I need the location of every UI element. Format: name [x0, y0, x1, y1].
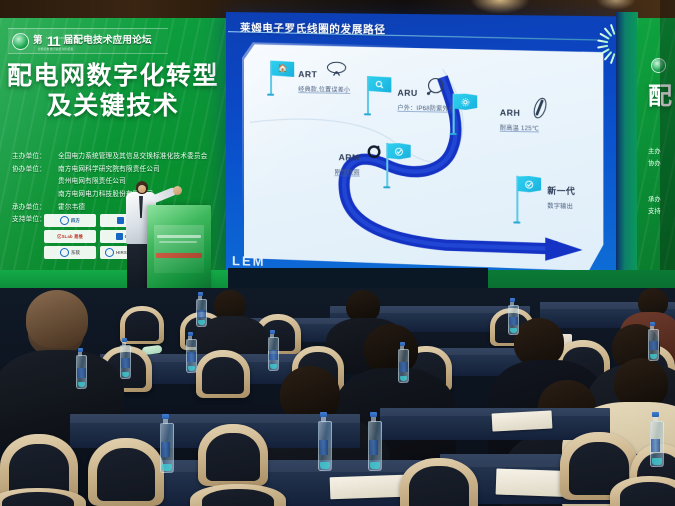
check-icon: [518, 176, 542, 193]
node-code: ARU: [397, 88, 417, 98]
node-code: ARM: [339, 152, 360, 162]
forum-prefix: 第: [33, 36, 43, 46]
check-icon: [388, 143, 411, 160]
right-banner-line: 主办: [648, 146, 661, 158]
ring-mark-icon: [60, 248, 69, 257]
ceiling-light-icon: [470, 0, 530, 14]
sponsor-logo: 亿SLab 易维: [44, 230, 96, 243]
banner-title-line2: 及关键技术: [0, 92, 226, 122]
audience-area: [0, 288, 675, 506]
flag-pole: [516, 176, 518, 223]
right-banner-line: 支持: [648, 206, 661, 218]
sponsor-logo: 东软: [44, 246, 96, 259]
forum-subtitle-en: THE 11TH POWER DISTRIBUTION TECHNOLOGY A…: [46, 37, 145, 40]
flag-pole: [270, 61, 272, 95]
organizer-value: 全国电力系统管理及其信息交换标准化技术委员会: [58, 153, 207, 160]
sponsor-name: 东软: [71, 250, 80, 256]
sponsor-logo: 四方: [44, 214, 96, 227]
chair: [198, 424, 268, 486]
handout-paper: [492, 410, 553, 431]
banner-title-line1: 配电网数字化转型: [7, 62, 219, 90]
right-edge-shadow: [660, 0, 675, 286]
organizer-value: 贵州电网有限责任公司: [58, 178, 126, 185]
dot-mark-icon: [117, 217, 124, 224]
organizer-value: 南方电网科学研究院有限责任公司: [58, 166, 160, 173]
handout-paper: [330, 475, 407, 500]
round-coil-icon: [426, 77, 445, 97]
projection-screen: 莱姆电子罗氏线圈的发展路径 🏠 ART 经典款,位置误差小: [226, 12, 624, 284]
wall-between-banners: [616, 12, 638, 286]
flag-base: [267, 93, 274, 96]
organizer-label: 主办单位：: [12, 151, 58, 164]
speaker-hand: [173, 186, 182, 195]
open-loop-coil-icon: [325, 60, 347, 76]
ring-mark-icon: [105, 248, 114, 257]
flag-base: [450, 133, 457, 136]
square-mark-icon: [116, 233, 123, 240]
node-caption: 刚性线圈: [335, 167, 360, 177]
rigid-ring-coil-icon: [367, 145, 381, 159]
lem-brand-logo: LEM: [232, 253, 266, 269]
gear-icon: [454, 94, 478, 111]
node-code: 新一代: [547, 186, 575, 197]
organizer-row: 协办单位：南方电网科学研究院有限责任公司: [12, 164, 218, 177]
podium-panel: [154, 225, 204, 273]
podium-red-band: [156, 253, 202, 258]
flag-base: [384, 186, 391, 189]
organizer-row: 贵州电网有限责任公司: [12, 176, 218, 189]
podium-graphic-line-2: [159, 241, 197, 243]
podium: [147, 205, 211, 293]
screenshot-root: 第 11 届配电技术应用论坛 THE 11TH POWER DISTRIBUTI…: [0, 0, 675, 506]
forum-logo: 第 11 届配电技术应用论坛 THE 11TH POWER DISTRIBUTI…: [8, 28, 168, 54]
chair: [400, 458, 478, 506]
chair: [88, 438, 164, 506]
node-caption: 经典款,位置误差小: [298, 84, 350, 94]
sponsor-name: 四方: [71, 218, 80, 224]
roadmap-node-arm: ARM 刚性线圈: [335, 147, 360, 177]
search-icon: [368, 76, 391, 92]
organizer-row: 主办单位：全国电力系统管理及其信息交换标准化技术委员会: [12, 151, 218, 164]
speaker-face: [138, 185, 146, 193]
ring-mark-icon: [60, 216, 69, 225]
node-code: ART: [298, 69, 317, 79]
flag-pole: [367, 76, 369, 114]
flag-pole: [386, 143, 388, 187]
home-icon: 🏠: [271, 61, 294, 77]
globe-icon: [12, 33, 29, 50]
organizer-label: 协办单位：: [12, 164, 58, 177]
right-banner-lines: 主办 协办: [648, 146, 661, 171]
chair: [196, 350, 250, 398]
right-banner-line: 承办: [648, 194, 661, 206]
node-caption: 耐高温 125℃: [500, 123, 539, 133]
sponsor-name: 亿SLab 易维: [57, 234, 83, 240]
node-caption: 户外：IP68防紫外线: [397, 103, 455, 113]
flag-pole: [453, 93, 455, 134]
flag-base: [514, 221, 521, 224]
node-caption: 数字输出: [547, 201, 575, 211]
banner-main-title: 配电网数字化转型 及关键技术: [0, 62, 226, 121]
podium-graphic-line: [157, 235, 201, 238]
flag-base: [364, 113, 371, 116]
organizer-label: 承办单位：: [12, 202, 58, 215]
forum-subtitle-cn: 智能配电 数字赋能 绿色低碳: [38, 47, 73, 51]
roadmap-node-new-gen: 新一代 数字输出: [547, 180, 575, 210]
ceiling-light-icon-2: [596, 0, 636, 10]
node-code: ARH: [500, 107, 521, 117]
right-banner-lines-2: 承办 支持: [648, 194, 661, 219]
organizer-value: 霍尔韦德: [58, 204, 85, 211]
speaker-legs: [127, 240, 149, 292]
slim-coil-icon: [531, 97, 550, 120]
organizer-row: 南方电网电力科技股份有限公司: [12, 189, 218, 202]
right-banner-line: 协办: [648, 158, 661, 170]
